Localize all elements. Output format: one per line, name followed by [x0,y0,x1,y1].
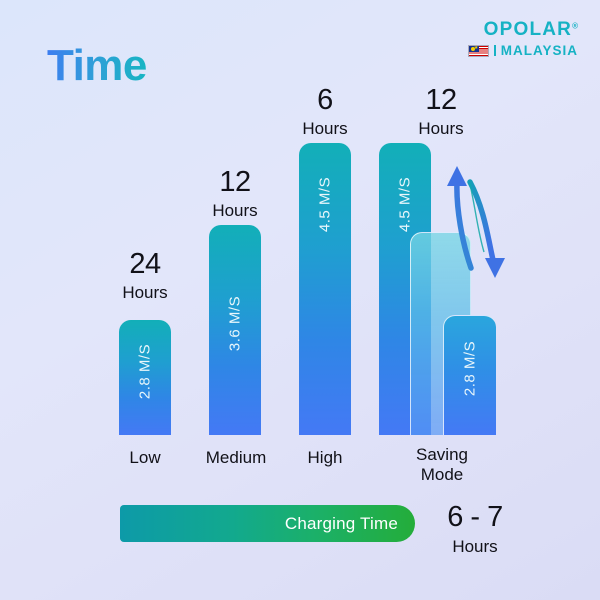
bar-low[interactable]: 2.8 M/S [119,320,171,435]
hours-label-saving-mode: 12 Hours [400,86,482,137]
category-label-saving-mode: Saving Mode [396,445,488,486]
category-label-saving-mode-line2: Mode [396,465,488,485]
hours-value-low: 24 [105,250,185,279]
bar-speed-medium: 3.6 M/S [227,296,244,351]
category-label-high: High [285,448,365,468]
category-label-saving-mode-line1: Saving [396,445,488,465]
bar-medium[interactable]: 3.6 M/S [209,225,261,435]
hours-label-medium: 12 Hours [195,168,275,219]
hours-word-medium: Hours [195,202,275,219]
bar-high[interactable]: 4.5 M/S [299,143,351,435]
hours-value-saving-mode: 12 [400,86,482,115]
infographic-canvas: Time OPOLAR® ★ MALAYSIA 24 Hours 2.8 M/S… [0,0,600,600]
hours-word-low: Hours [105,284,185,301]
hours-label-high: 6 Hours [285,86,365,137]
bar-speed-saving-mode-high: 4.5 M/S [397,177,414,232]
charging-hours-word: Hours [420,538,530,555]
charging-hours-value: 6 - 7 [420,503,530,532]
bar-speed-saving-mode-low: 2.8 M/S [462,341,479,396]
hours-word-high: Hours [285,120,365,137]
hours-word-saving-mode: Hours [400,120,482,137]
hours-value-high: 6 [285,86,365,115]
charging-time-hours: 6 - 7 Hours [420,503,530,555]
hours-label-low: 24 Hours [105,250,185,301]
cycle-arrows-icon [440,160,510,285]
bar-speed-high: 4.5 M/S [317,177,334,232]
bar-saving-mode-low[interactable]: 2.8 M/S [443,315,496,435]
category-label-low: Low [105,448,185,468]
charging-time-label: Charging Time [285,514,415,534]
charging-time-row: Charging Time 6 - 7 Hours [0,505,600,565]
bar-speed-low: 2.8 M/S [137,344,154,399]
charging-time-bar[interactable]: Charging Time [120,505,415,542]
hours-value-medium: 12 [195,168,275,197]
category-label-medium: Medium [190,448,282,468]
